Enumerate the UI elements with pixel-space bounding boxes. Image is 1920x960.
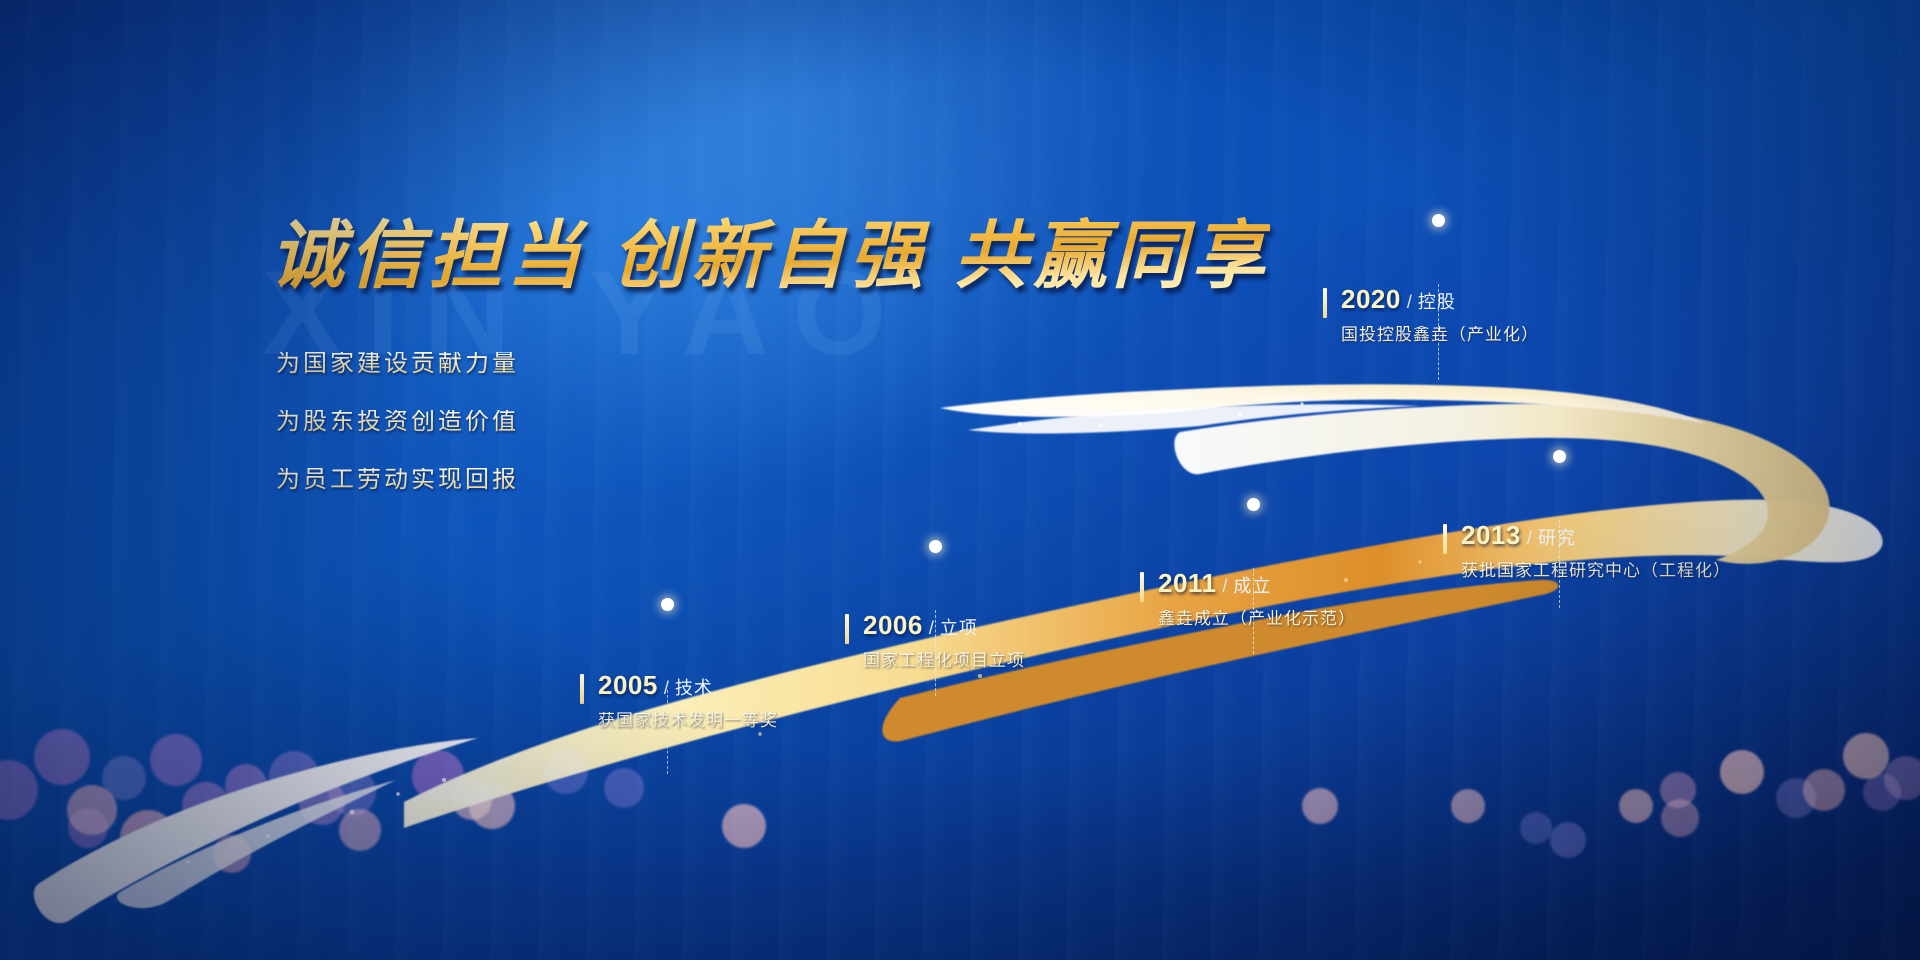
milestone-accent-bar [1323,288,1327,318]
bokeh-light [1302,788,1338,824]
milestone-description: 国家工程化项目立项 [863,652,1025,669]
bokeh-light [1843,733,1889,779]
bokeh-light [1619,789,1653,823]
milestone-accent-bar [1140,572,1144,602]
subtitle-line: 为员工劳动实现回报 [276,468,519,492]
page-title: 诚信担当创新自强共赢同享 [270,196,1270,303]
milestone-year-row: 2020/控股 [1341,286,1539,312]
bokeh-light [412,750,464,802]
milestone-year-row: 2011/成立 [1158,570,1356,596]
milestone-accent-bar [845,614,849,644]
headline-part-2: 创新自强 [612,213,928,299]
bokeh-light [339,809,381,851]
bokeh-light [213,835,251,873]
milestone-tag: 研究 [1538,528,1576,548]
bokeh-light [269,751,319,801]
timeline-dot[interactable] [1432,214,1445,227]
milestone-year: 2013 [1461,520,1521,550]
milestone-tag: 立项 [940,618,978,638]
milestone-year: 2020 [1341,284,1401,314]
timeline-milestone-2005[interactable]: 2005/技术获国家技术发明一等奖 [580,672,778,729]
milestone-description: 获国家技术发明一等奖 [598,712,778,729]
subtitle-line: 为股东投资创造价值 [276,410,519,434]
bokeh-light [722,804,766,848]
bokeh-light [1803,769,1845,811]
bokeh-light [604,768,644,808]
bokeh-light [1776,778,1816,818]
bokeh-light [1863,773,1901,811]
timeline-dot[interactable] [1553,450,1566,463]
milestone-year: 2005 [598,670,658,700]
bokeh-light [452,780,492,820]
timeline-dot[interactable] [1247,498,1260,511]
milestone-separator: / [1527,528,1532,548]
bokeh-light [1660,772,1696,808]
milestone-year-row: 2005/技术 [598,672,778,698]
timeline-dot[interactable] [661,598,674,611]
bokeh-light [0,760,38,820]
bokeh-light [150,734,202,786]
subtitle-list: 为国家建设贡献力量 为股东投资创造价值 为员工劳动实现回报 [276,352,519,526]
bokeh-light [1451,789,1485,823]
bokeh-light [1661,799,1699,837]
bokeh-light [182,782,230,830]
milestone-accent-bar [1443,524,1447,554]
bokeh-light [120,810,176,866]
milestone-year-row: 2013/研究 [1461,522,1731,548]
bokeh-light [544,750,588,794]
milestone-tag: 成立 [1233,576,1271,596]
bokeh-light [102,756,146,800]
bokeh-light [1720,750,1764,794]
bokeh-light [1520,812,1552,844]
headline-part-3: 共赢同享 [954,213,1270,299]
milestone-year: 2011 [1158,568,1216,598]
bokeh-light [34,729,90,785]
milestone-accent-bar [580,674,584,704]
milestone-separator: / [664,678,669,698]
milestone-tag: 控股 [1418,292,1456,312]
milestone-description: 鑫垚成立（产业化示范） [1158,610,1356,627]
bokeh-light [225,764,267,806]
milestone-tag: 技术 [675,678,713,698]
subtitle-line: 为国家建设贡献力量 [276,352,519,376]
milestone-separator: / [1222,576,1227,596]
milestone-year: 2006 [863,610,923,640]
timeline-milestone-2020[interactable]: 2020/控股国投控股鑫垚（产业化） [1323,286,1539,343]
bokeh-light [469,783,515,829]
milestone-description: 获批国家工程研究中心（工程化） [1461,562,1731,579]
milestone-separator: / [929,618,934,638]
poster-canvas: XIN YAO 诚信担当创新自强共赢同享 为国家建设贡献力量 为股东投资创造价值… [0,0,1920,960]
bokeh-light [1550,822,1586,858]
bokeh-light [299,779,345,825]
timeline-milestone-2011[interactable]: 2011/成立鑫垚成立（产业化示范） [1140,570,1356,627]
headline-part-1: 诚信担当 [270,213,586,299]
timeline-milestone-2006[interactable]: 2006/立项国家工程化项目立项 [845,612,1025,669]
bokeh-light [328,768,376,816]
milestone-year-row: 2006/立项 [863,612,1025,638]
milestone-description: 国投控股鑫垚（产业化） [1341,326,1539,343]
bokeh-light [1884,756,1920,800]
bokeh-light [67,785,117,835]
bokeh-light [68,808,108,848]
timeline-milestone-2013[interactable]: 2013/研究获批国家工程研究中心（工程化） [1443,522,1731,579]
milestone-separator: / [1407,292,1412,312]
timeline-dot[interactable] [929,540,942,553]
